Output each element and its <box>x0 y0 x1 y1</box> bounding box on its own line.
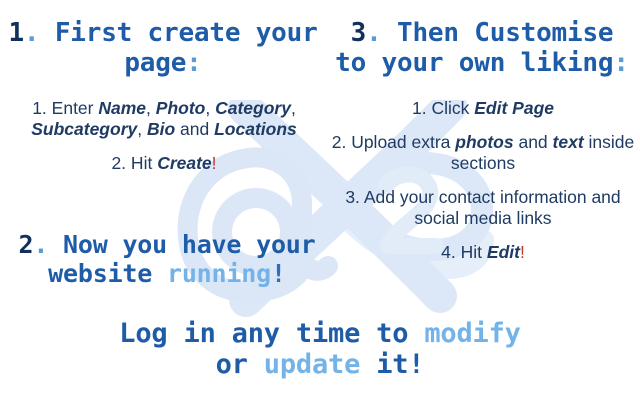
list-item-text: , <box>291 98 296 118</box>
list-item-text: and <box>514 132 553 152</box>
heading-1-dot: . <box>24 18 39 48</box>
heading-1-colon: : <box>186 48 201 78</box>
emphasis-term: Edit Page <box>474 98 554 118</box>
heading-2-number: 2 <box>18 230 33 259</box>
emphasis-term: Name <box>98 98 146 118</box>
emphasis-term: Edit <box>487 242 520 262</box>
steps-list-right: 1. Click Edit Page 2. Upload extra photo… <box>330 98 636 263</box>
footer-line2a: or <box>216 349 264 380</box>
spacer <box>14 140 314 153</box>
footer-tagline: Log in any time to modify or update it! <box>60 318 580 381</box>
list-item-text: Add your contact information and social … <box>360 187 621 228</box>
emphasis-term: photos <box>455 132 513 152</box>
heading-2-line2b: running <box>167 259 271 288</box>
footer-line1b: modify <box>424 318 520 349</box>
heading-1-line1: First create your <box>39 18 317 48</box>
heading-2-dot: . <box>33 230 48 259</box>
list-item-index: 2. <box>111 153 126 173</box>
emphasis-term: Subcategory <box>31 119 137 139</box>
list-item: 4. Hit Edit! <box>330 242 636 263</box>
heading-2-line1: Now you have your <box>48 230 315 259</box>
emphasis-term: Category <box>215 98 291 118</box>
exclamation-accent: ! <box>212 153 217 173</box>
list-item: 3. Add your contact information and soci… <box>330 187 636 229</box>
spacer <box>330 229 636 242</box>
list-item-text: and <box>175 119 214 139</box>
emphasis-term: Create <box>157 153 211 173</box>
list-item-index: 3. <box>345 187 360 207</box>
emphasis-term: text <box>553 132 584 152</box>
list-item: 2. Upload extra photos and text inside s… <box>330 132 636 174</box>
heading-step-2: 2. Now you have your website running! <box>2 230 332 288</box>
spacer <box>330 119 636 132</box>
spacer <box>330 174 636 187</box>
heading-3-line1: Then Customise <box>382 18 614 48</box>
heading-3-colon: : <box>613 48 628 78</box>
heading-3-dot: . <box>366 18 381 48</box>
heading-1-line2: page <box>124 48 186 78</box>
list-item: 2. Hit Create! <box>14 153 314 174</box>
heading-3-line2: to your own liking <box>335 48 613 78</box>
exclamation-accent: ! <box>520 242 525 262</box>
list-item-text: Enter <box>47 98 99 118</box>
heading-1-number: 1 <box>8 18 23 48</box>
heading-step-3: 3. Then Customise to your own liking: <box>326 18 638 78</box>
heading-step-1: 1. First create your page: <box>8 18 318 78</box>
list-item-text: , <box>146 98 156 118</box>
list-item-text: , <box>137 119 147 139</box>
emphasis-term: Bio <box>147 119 175 139</box>
list-item: 1. Click Edit Page <box>330 98 636 119</box>
heading-2-bang: ! <box>271 259 286 288</box>
list-item-index: 1. <box>32 98 47 118</box>
poster-canvas: 1. First create your page: 1. Enter Name… <box>0 0 640 414</box>
list-item-index: 4. <box>441 242 456 262</box>
list-item-index: 2. <box>332 132 347 152</box>
list-item-text: , <box>205 98 215 118</box>
list-item-text: Hit <box>456 242 487 262</box>
list-item-text: Hit <box>126 153 157 173</box>
list-item-index: 1. <box>412 98 427 118</box>
list-item-text: Click <box>427 98 475 118</box>
footer-line2b: update <box>264 349 360 380</box>
list-item-text: Upload extra <box>346 132 455 152</box>
emphasis-term: Locations <box>214 119 297 139</box>
footer-line1a: Log in any time to <box>119 318 424 349</box>
footer-line2c: it! <box>360 349 424 380</box>
heading-2-line2a: website <box>48 259 167 288</box>
heading-3-number: 3 <box>351 18 366 48</box>
emphasis-term: Photo <box>156 98 206 118</box>
list-item: 1. Enter Name, Photo, Category, Subcateg… <box>14 98 314 140</box>
steps-list-left: 1. Enter Name, Photo, Category, Subcateg… <box>14 98 314 174</box>
